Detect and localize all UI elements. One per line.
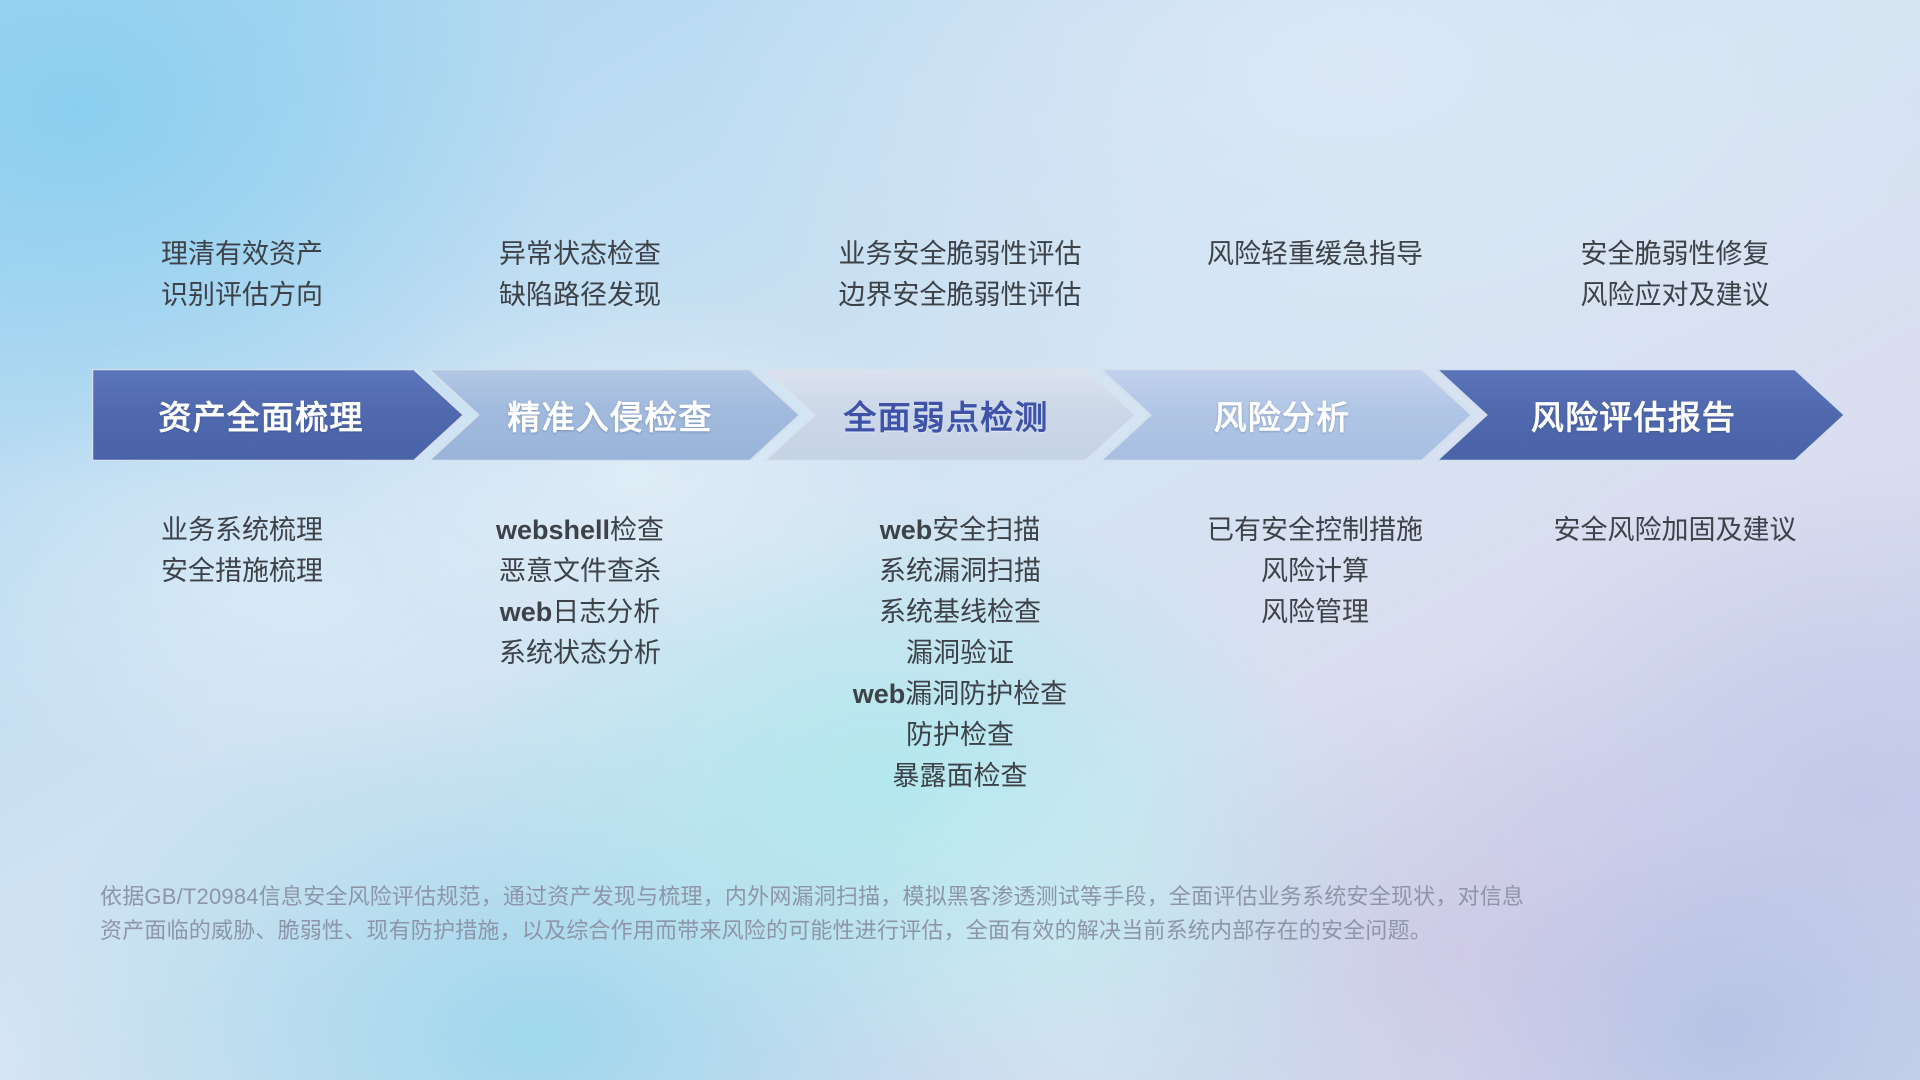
stage-2-arrow[interactable]: 精准入侵检查 — [428, 369, 800, 461]
list-item: 安全措施梳理 — [92, 551, 392, 592]
list-item-suffix: 检查 — [610, 515, 664, 545]
stage-2-label: 精准入侵检查 — [507, 391, 712, 439]
list-item: web日志分析 — [430, 592, 730, 633]
list-item: 识别评估方向 — [92, 275, 392, 316]
list-item: 业务系统梳理 — [92, 510, 392, 551]
stage-1-label: 资产全面梳理 — [158, 391, 363, 439]
list-item: 系统状态分析 — [430, 633, 730, 674]
list-item: 暴露面检查 — [790, 756, 1130, 797]
list-item: 系统基线检查 — [790, 592, 1130, 633]
list-item-bold-prefix: web — [853, 679, 906, 709]
stage-4-above-list: 风险轻重缓急指导 — [1155, 234, 1475, 275]
list-item: 已有安全控制措施 — [1155, 510, 1475, 551]
footnote-line-2: 资产面临的威胁、脆弱性、现有防护措施，以及综合作用而带来风险的可能性进行评估，全… — [100, 914, 1640, 948]
list-item-suffix: 日志分析 — [552, 597, 660, 627]
list-item: 防护检查 — [790, 715, 1130, 756]
stage-5-below-list: 安全风险加固及建议 — [1505, 510, 1845, 551]
process-diagram: 理清有效资产 识别评估方向 异常状态检查 缺陷路径发现 业务安全脆弱性评估 边界… — [0, 0, 1920, 1080]
stage-2-above-list: 异常状态检查 缺陷路径发现 — [430, 234, 730, 316]
stage-3-below-list: web安全扫描 系统漏洞扫描 系统基线检查 漏洞验证 web漏洞防护检查 防护检… — [790, 510, 1130, 797]
list-item-bold-prefix: webshell — [496, 515, 610, 545]
list-item: 漏洞验证 — [790, 633, 1130, 674]
stage-4-arrow[interactable]: 风险分析 — [1100, 369, 1472, 461]
stage-4-label: 风险分析 — [1214, 391, 1351, 439]
stage-5-arrow[interactable]: 风险评估报告 — [1436, 369, 1845, 461]
list-item: 缺陷路径发现 — [430, 275, 730, 316]
process-arrow-band: 资产全面梳理 精准入侵检查 — [92, 369, 1845, 461]
list-item-suffix: 安全扫描 — [932, 515, 1040, 545]
list-item: 安全风险加固及建议 — [1505, 510, 1845, 551]
footnote: 依据GB/T20984信息安全风险评估规范，通过资产发现与梳理，内外网漏洞扫描，… — [100, 880, 1640, 948]
stage-3-above-list: 业务安全脆弱性评估 边界安全脆弱性评估 — [790, 234, 1130, 316]
list-item: 系统漏洞扫描 — [790, 551, 1130, 592]
stage-3-arrow[interactable]: 全面弱点检测 — [764, 369, 1136, 461]
list-item: 恶意文件查杀 — [430, 551, 730, 592]
stage-5-above-list: 安全脆弱性修复 风险应对及建议 — [1510, 234, 1840, 316]
stage-4-below-list: 已有安全控制措施 风险计算 风险管理 — [1155, 510, 1475, 633]
stage-2-below-list: webshell检查 恶意文件查杀 web日志分析 系统状态分析 — [430, 510, 730, 674]
list-item-suffix: 漏洞防护检查 — [905, 679, 1067, 709]
stage-1-arrow[interactable]: 资产全面梳理 — [92, 369, 464, 461]
list-item: web安全扫描 — [790, 510, 1130, 551]
list-item: 边界安全脆弱性评估 — [790, 275, 1130, 316]
list-item: 理清有效资产 — [92, 234, 392, 275]
stage-3-label: 全面弱点检测 — [843, 391, 1048, 439]
list-item: webshell检查 — [430, 510, 730, 551]
list-item: 风险管理 — [1155, 592, 1475, 633]
list-item: 业务安全脆弱性评估 — [790, 234, 1130, 275]
list-item: 安全脆弱性修复 — [1510, 234, 1840, 275]
list-item: 风险轻重缓急指导 — [1155, 234, 1475, 275]
stage-5-label: 风险评估报告 — [1531, 391, 1736, 439]
footnote-line-1: 依据GB/T20984信息安全风险评估规范，通过资产发现与梳理，内外网漏洞扫描，… — [100, 880, 1640, 914]
list-item: 异常状态检查 — [430, 234, 730, 275]
list-item-bold-prefix: web — [880, 515, 933, 545]
list-item: 风险应对及建议 — [1510, 275, 1840, 316]
list-item-bold-prefix: web — [500, 597, 553, 627]
list-item: web漏洞防护检查 — [790, 674, 1130, 715]
stage-1-above-list: 理清有效资产 识别评估方向 — [92, 234, 392, 316]
list-item: 风险计算 — [1155, 551, 1475, 592]
stage-1-below-list: 业务系统梳理 安全措施梳理 — [92, 510, 392, 592]
